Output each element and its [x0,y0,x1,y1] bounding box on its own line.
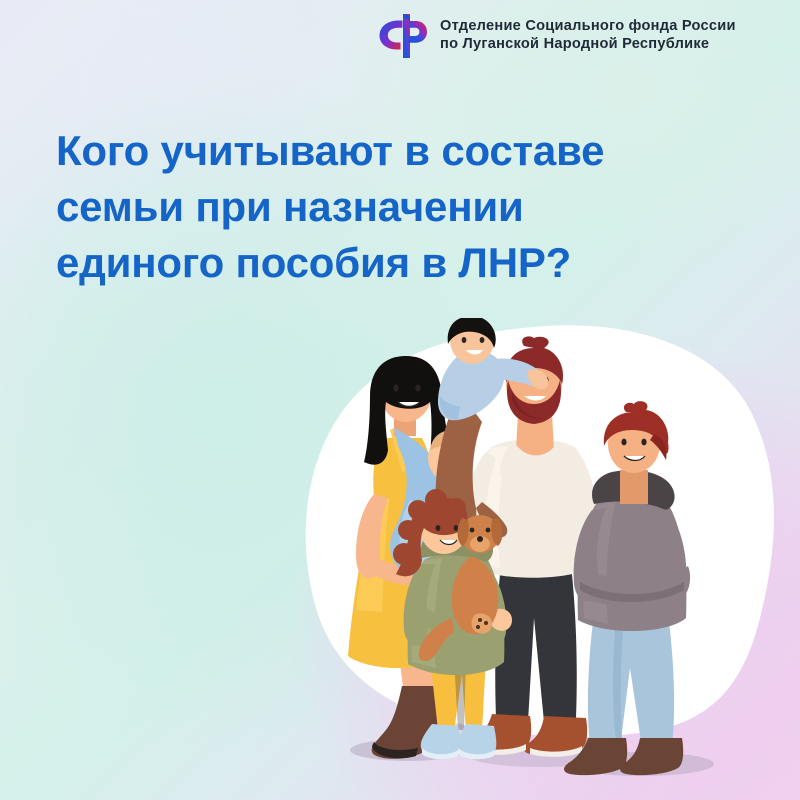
page-title-line-2: семьи при назначении [56,179,716,235]
page-title-line-1: Кого учитывают в составе [56,123,716,179]
page-title-line-3: единого пособия в ЛНР? [56,235,716,291]
family-group-illustration [290,318,800,800]
org-name-line-1: Отделение Социального фонда России [440,18,736,36]
organization-name: Отделение Социального фонда России по Лу… [440,18,736,54]
sfr-logo-icon [374,12,430,60]
poster-root: Отделение Социального фонда России по Лу… [0,0,800,800]
org-name-line-2: по Луганской Народной Республике [440,36,736,54]
header-branding: Отделение Социального фонда России по Лу… [374,12,736,60]
page-title: Кого учитывают в составе семьи при назна… [56,123,716,291]
family-illustration-svg [290,318,800,800]
